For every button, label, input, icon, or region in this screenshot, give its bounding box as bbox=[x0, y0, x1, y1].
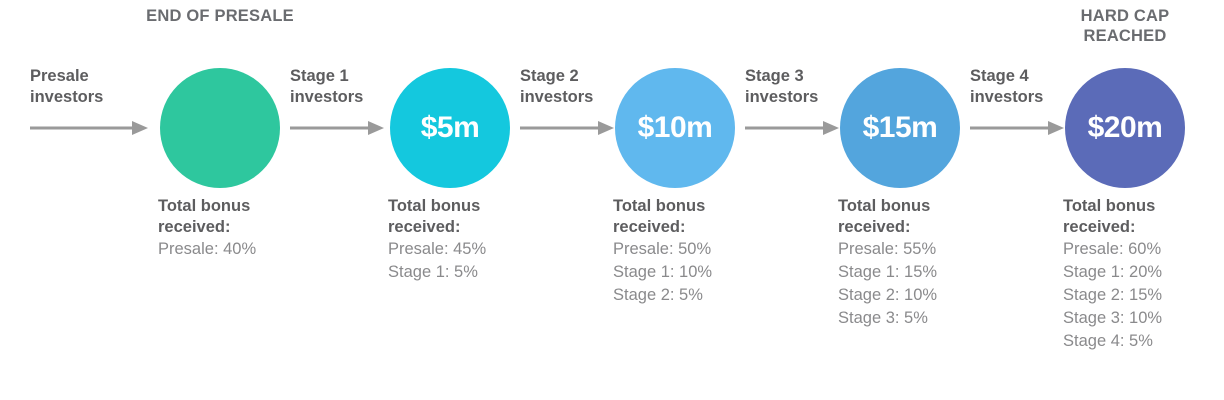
stage-2: $10m Total bonus received: Presale: 50% … bbox=[585, 0, 765, 400]
stage-circle-1: $5m bbox=[390, 68, 510, 188]
stage-amount-4: $20m bbox=[1088, 113, 1163, 143]
stage-amount-2: $10m bbox=[638, 113, 713, 143]
bonus-line: Stage 4: 5% bbox=[1063, 330, 1224, 353]
stage-heading-4: HARD CAP REACHED bbox=[1035, 6, 1215, 46]
stage-3: $15m Total bonus received: Presale: 55% … bbox=[810, 0, 990, 400]
stage-heading-0: END OF PRESALE bbox=[130, 6, 310, 26]
stage-4: HARD CAP REACHED $20m Total bonus receiv… bbox=[1035, 0, 1215, 400]
stage-amount-3: $15m bbox=[863, 113, 938, 143]
bonus-line: Stage 1: 20% bbox=[1063, 261, 1224, 284]
bonus-title-4: Total bonus received: bbox=[1063, 196, 1224, 238]
presale-bonus-flow-diagram: Presale investors END OF PRESALE Total b… bbox=[0, 0, 1224, 400]
bonus-line: Stage 3: 10% bbox=[1063, 307, 1224, 330]
bonus-block-4: Total bonus received: Presale: 60% Stage… bbox=[1063, 196, 1224, 353]
bonus-line: Stage 2: 15% bbox=[1063, 284, 1224, 307]
bonus-line: Presale: 60% bbox=[1063, 238, 1224, 261]
stage-1: $5m Total bonus received: Presale: 45% S… bbox=[360, 0, 540, 400]
stage-circle-4: $20m bbox=[1065, 68, 1185, 188]
stage-circle-0 bbox=[160, 68, 280, 188]
stage-circle-2: $10m bbox=[615, 68, 735, 188]
stage-0: END OF PRESALE Total bonus received: Pre… bbox=[130, 0, 310, 400]
stage-amount-1: $5m bbox=[421, 113, 480, 143]
stage-circle-3: $15m bbox=[840, 68, 960, 188]
